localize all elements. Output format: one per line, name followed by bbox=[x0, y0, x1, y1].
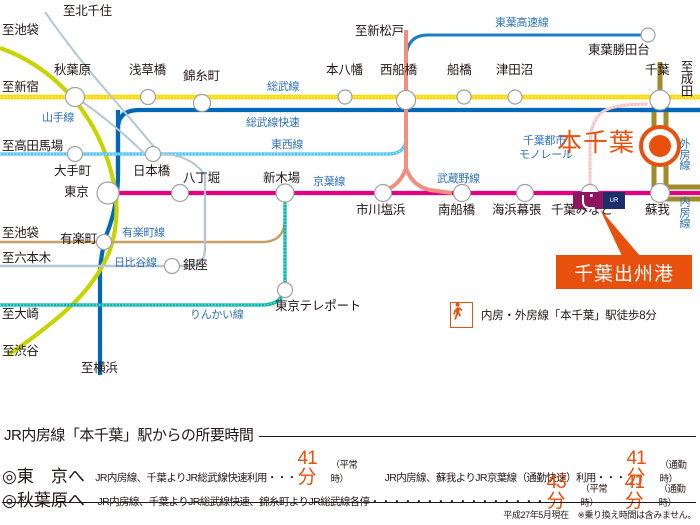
station-label-ginza: 銀座 bbox=[183, 259, 208, 272]
station-marker-ichikawa-shiohama[interactable] bbox=[375, 185, 392, 202]
terminus-to-yokohama: 至横浜 bbox=[81, 362, 118, 375]
station-marker-toyo-katsutadai[interactable] bbox=[641, 28, 655, 42]
line-rinkai bbox=[0, 193, 285, 305]
line-label-rinkai: りんかい線 bbox=[190, 310, 244, 321]
travel-time-title-row: JR内房線「本千葉」駅からの所要時間 bbox=[4, 424, 696, 445]
info-bottom-divider bbox=[2, 502, 696, 503]
line-label-chiba-monorail-1: 千葉都市 bbox=[523, 136, 566, 147]
line-hibiya-north bbox=[45, 12, 160, 154]
station-marker-akihabara[interactable] bbox=[66, 88, 85, 107]
station-marker-ginza[interactable] bbox=[165, 259, 180, 274]
line-label-keiyo: 京葉線 bbox=[313, 177, 345, 188]
station-label-nishi-funabashi: 西船橋 bbox=[380, 64, 417, 77]
line-label-chiba-monorail-2: モノレール bbox=[519, 150, 573, 161]
callout-chiba-deshu-port[interactable]: 千葉出州港 bbox=[556, 255, 692, 289]
terminus-to-shinjuku: 至新宿 bbox=[2, 81, 39, 94]
line-label-yamanote: 山手線 bbox=[42, 113, 74, 124]
station-label-ichikawa-shiohama: 市川塩浜 bbox=[356, 204, 405, 217]
title-divider bbox=[259, 436, 696, 437]
terminus-to-osaki: 至大崎 bbox=[2, 308, 39, 321]
chiba-port-logo-chip[interactable]: UR bbox=[573, 192, 625, 209]
footnote-text: 平成27年5月現在 ※乗り換え時間は含みません。 bbox=[503, 508, 696, 521]
station-label-kaihin-makuhari: 海浜幕張 bbox=[492, 204, 541, 217]
terminus-to-ikebukuro-top: 至池袋 bbox=[2, 24, 39, 37]
station-label-tokyo-teleport: 東京テレポート bbox=[275, 300, 361, 313]
line-rinkai-dots bbox=[0, 193, 285, 305]
condition-akihabara-2: （通勤時） bbox=[659, 481, 698, 511]
terminus-to-kitasenju: 至北千住 bbox=[63, 5, 112, 18]
station-marker-tokyo[interactable] bbox=[97, 182, 119, 204]
station-label-funabashi: 船橋 bbox=[447, 64, 472, 77]
line-label-sobu: 総武線 bbox=[267, 82, 299, 93]
line-label-sotobo: 外房線 bbox=[678, 138, 689, 180]
station-label-minami-funabashi: 南船橋 bbox=[438, 204, 475, 217]
station-label-yurakucho: 有楽町 bbox=[60, 233, 97, 246]
line-hibiya-to-akihabara bbox=[75, 97, 145, 154]
walking-person-icon bbox=[450, 302, 473, 328]
station-label-tokyo: 東京 bbox=[64, 186, 89, 199]
station-marker-otemachi[interactable] bbox=[68, 147, 83, 162]
route-map-page: 至北千住 至池袋 至新宿 至高田馬場 至池袋 至六本木 至大崎 至渋谷 至横浜 … bbox=[0, 0, 700, 525]
port-logo-mark bbox=[573, 192, 603, 209]
travel-time-row-akihabara: ◎秋葉原へ JR内房線、千葉よりJR総武線快速、錦糸町よりJR総武線各停 ・・・… bbox=[2, 473, 698, 511]
station-label-chiba: 千葉 bbox=[645, 64, 670, 77]
station-label-nihonbashi: 日本橋 bbox=[133, 165, 170, 178]
line-label-yurakucho: 有楽町線 bbox=[122, 228, 165, 239]
terminus-to-shibuya: 至渋谷 bbox=[2, 345, 39, 358]
station-marker-soga[interactable] bbox=[651, 184, 670, 203]
station-label-kinshicho: 錦糸町 bbox=[183, 70, 220, 83]
terminus-to-takadanobaba: 至高田馬場 bbox=[2, 140, 63, 153]
station-label-shinkiba: 新木場 bbox=[263, 172, 300, 185]
terminus-to-roppongi: 至六本木 bbox=[2, 252, 51, 265]
station-marker-kaihin-makuhari[interactable] bbox=[517, 185, 534, 202]
station-marker-minami-funabashi[interactable] bbox=[454, 185, 471, 202]
line-label-musashino: 武蔵野線 bbox=[437, 174, 480, 185]
travel-time-title: JR内房線「本千葉」駅からの所要時間 bbox=[4, 424, 253, 445]
port-logo-sub: UR bbox=[603, 192, 625, 209]
minutes-akihabara-2: 41分 bbox=[624, 473, 659, 511]
line-label-uchibo: 内房線 bbox=[678, 196, 689, 238]
line-label-tozai: 東西線 bbox=[271, 140, 303, 151]
line-label-hibiya: 日比谷線 bbox=[114, 258, 157, 269]
railway-map: 至北千住 至池袋 至新宿 至高田馬場 至池袋 至六本木 至大崎 至渋谷 至横浜 … bbox=[0, 0, 700, 420]
line-label-toyo-kosoku: 東葉高速線 bbox=[495, 18, 549, 29]
station-label-tsudanuma: 津田沼 bbox=[496, 64, 533, 77]
station-label-hatchobori: 八丁堀 bbox=[183, 172, 220, 185]
station-marker-hon-chiba-inner bbox=[649, 135, 671, 157]
station-marker-tokyo-teleport[interactable] bbox=[278, 283, 293, 298]
station-marker-hatchobori[interactable] bbox=[172, 185, 189, 202]
travel-time-panel: JR内房線「本千葉」駅からの所要時間 ◎東 京へ JR内房線、千葉よりJR総武線… bbox=[0, 424, 700, 525]
walk-access-note: 内房・外房線「本千葉」駅徒歩8分 bbox=[450, 302, 657, 328]
line-label-sobu-rapid: 総武線快速 bbox=[246, 118, 300, 129]
station-marker-yurakucho[interactable] bbox=[97, 235, 112, 250]
minutes-akihabara-1: 43分 bbox=[546, 473, 581, 511]
station-marker-chiba[interactable] bbox=[650, 90, 670, 110]
terminus-to-ikebukuro-left: 至池袋 bbox=[2, 227, 39, 240]
station-label-otemachi: 大手町 bbox=[54, 165, 91, 178]
station-marker-asakusabashi[interactable] bbox=[141, 90, 156, 105]
port-logo-sub-label: UR bbox=[610, 198, 619, 204]
station-label-asakusabashi: 浅草橋 bbox=[129, 64, 166, 77]
terminus-to-narita: 至成田 bbox=[679, 60, 692, 112]
station-marker-motoyawata[interactable] bbox=[338, 90, 352, 104]
station-label-soga: 蘇我 bbox=[645, 204, 670, 217]
station-marker-nihonbashi[interactable] bbox=[146, 147, 161, 162]
callout-label: 千葉出州港 bbox=[574, 259, 674, 286]
station-marker-kinshicho[interactable] bbox=[194, 95, 211, 112]
station-label-toyo-katsutadai: 東葉勝田台 bbox=[588, 44, 650, 57]
destination-label-akihabara: ◎秋葉原へ bbox=[2, 486, 98, 511]
station-label-akihabara: 秋葉原 bbox=[54, 64, 91, 77]
condition-akihabara-1: （平常時） bbox=[580, 481, 619, 511]
station-marker-shinkiba[interactable] bbox=[276, 184, 294, 202]
station-marker-tsudanuma[interactable] bbox=[508, 90, 522, 104]
station-label-motoyawata: 本八幡 bbox=[326, 64, 363, 77]
station-marker-nishi-funabashi[interactable] bbox=[397, 91, 416, 110]
walk-access-text: 内房・外房線「本千葉」駅徒歩8分 bbox=[481, 307, 657, 323]
terminus-to-shinmatsudo: 至新松戸 bbox=[355, 25, 404, 38]
station-marker-funabashi[interactable] bbox=[457, 90, 471, 104]
